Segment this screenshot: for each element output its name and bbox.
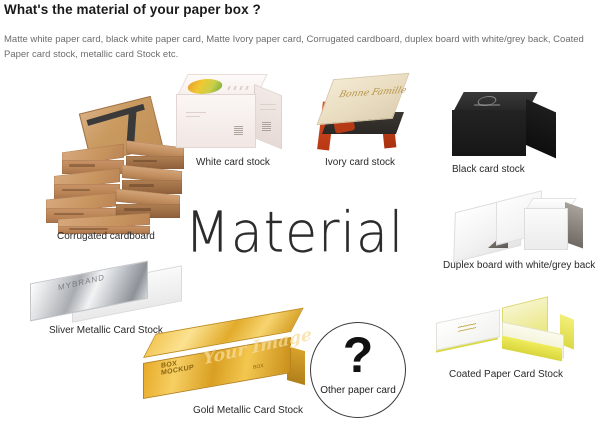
question-mark-icon: ? (311, 330, 405, 380)
gold-metallic-card-stock-image: Your Image BOX MOCKUP BOX (135, 334, 313, 396)
intro-paragraph: Matte white paper card, black white pape… (4, 32, 592, 62)
black-card-stock-image (452, 92, 560, 158)
other-paper-card-caption: Other paper card (311, 385, 405, 396)
white-card-stock-caption: White card stock (196, 157, 270, 169)
gold-metallic-card-stock-caption: Gold Metallic Card Stock (193, 405, 303, 417)
ivory-card-stock-caption: Ivory card stock (325, 157, 395, 169)
corrugated-cardboard-image (38, 104, 194, 232)
other-paper-card-circle: ? Other paper card (310, 322, 406, 418)
ivory-card-stock-image: Bonne Famille (312, 72, 408, 152)
duplex-board-image (452, 196, 592, 258)
material-infographic: What's the material of your paper box ? … (0, 0, 600, 429)
coated-paper-card-stock-image (432, 302, 592, 368)
black-card-stock-caption: Black card stock (452, 164, 525, 176)
material-watermark: Material (185, 205, 404, 261)
duplex-board-caption: Duplex board with white/grey back (443, 260, 595, 272)
coated-paper-card-stock-caption: Coated Paper Card Stock (449, 369, 563, 381)
white-card-stock-image (176, 74, 280, 148)
silver-metallic-card-stock-image: MYBRAND (28, 266, 190, 328)
page-title: What's the material of your paper box ? (4, 2, 261, 17)
corrugated-cardboard-caption: Corrugated cardboard (57, 231, 155, 243)
